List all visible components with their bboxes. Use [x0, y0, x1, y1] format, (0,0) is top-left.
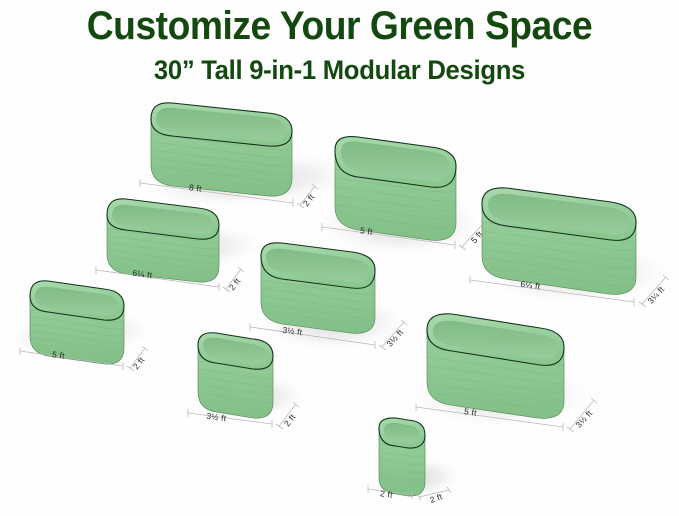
dimension-length-label: 6¼ ft	[132, 268, 154, 281]
planter-2x2-round: 2 ft 2 ft	[368, 418, 460, 505]
planter-3h-x-2-oval: 3½ ft 2 ft	[188, 333, 306, 429]
dimension-width-label: 3½ ft	[573, 408, 594, 430]
dimension-length-label: 8 ft	[188, 182, 202, 194]
dimension-length-label: 5 ft	[359, 225, 373, 237]
dimension-width-label: 2 ft	[131, 355, 147, 371]
dimension-width: 2 ft	[127, 346, 148, 371]
planter-lineup-illustration: 8 ft 2 ft	[0, 0, 679, 516]
dimension-width-label: 2 ft	[282, 412, 298, 428]
planter-3h-x-3h-square: 3½ ft 3½ ft	[250, 243, 407, 350]
dimension-width: 2 ft	[223, 267, 244, 292]
planter-5-x-3h-rect: 5 ft 3½ ft	[412, 314, 597, 432]
dimension-length-label: 5 ft	[51, 349, 65, 361]
planter-6q-x-3q-rect: 6¼ ft 3¼ ft	[470, 188, 669, 307]
dimension-width-label: 2 ft	[227, 276, 243, 292]
planter-5x5-square: 5 ft 5 ft	[320, 137, 493, 256]
dimension-length-label: 5 ft	[463, 406, 477, 418]
planter-6q-x-2-oval: 6¼ ft 2 ft	[96, 199, 263, 292]
planter-5x2-oval: 5 ft 2 ft	[9, 281, 152, 371]
dimension-length-label: 3½ ft	[206, 411, 228, 424]
infographic-page: Customize Your Green Space 30” Tall 9-in…	[0, 0, 679, 516]
planter-8x2-oval: 8 ft 2 ft	[140, 103, 357, 213]
dimension-length-label: 2 ft	[379, 488, 393, 500]
